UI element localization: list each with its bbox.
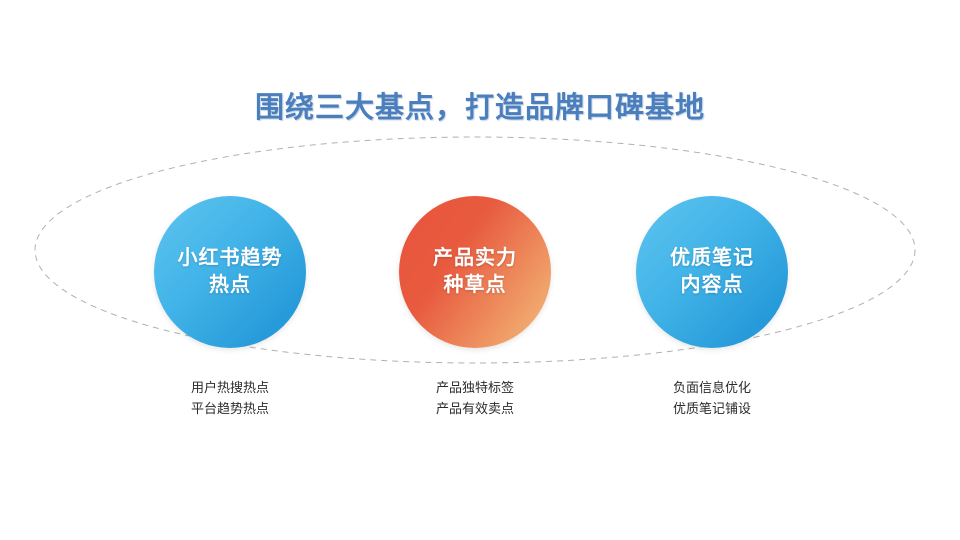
circle-shape-1[interactable]: 小红书趋势 热点 bbox=[154, 196, 306, 348]
page-title: 围绕三大基点，打造品牌口碑基地 bbox=[0, 84, 960, 126]
circle-label-1-line2: 热点 bbox=[178, 272, 283, 299]
circle-label-2-line1: 产品实力 bbox=[433, 247, 517, 269]
caption-3: 负面信息优化 优质笔记铺设 bbox=[597, 378, 827, 420]
circle-label-2-line2: 种草点 bbox=[433, 272, 517, 299]
circle-label-3-line1: 优质笔记 bbox=[670, 247, 754, 269]
caption-2-line1: 产品独特标签 bbox=[436, 380, 514, 395]
caption-1: 用户热搜热点 平台趋势热点 bbox=[115, 378, 345, 420]
caption-3-line2: 优质笔记铺设 bbox=[597, 399, 827, 420]
caption-2: 产品独特标签 产品有效卖点 bbox=[360, 378, 590, 420]
circle-label-1-line1: 小红书趋势 bbox=[178, 247, 283, 269]
circle-label-1: 小红书趋势 热点 bbox=[178, 245, 283, 299]
slide-canvas: 围绕三大基点，打造品牌口碑基地 小红书趋势 热点 产品实力 种草点 优质笔记 内… bbox=[0, 0, 960, 540]
caption-1-line1: 用户热搜热点 bbox=[191, 380, 269, 395]
node-circle-2[interactable]: 产品实力 种草点 bbox=[399, 196, 551, 348]
caption-2-line2: 产品有效卖点 bbox=[360, 399, 590, 420]
circle-shape-2[interactable]: 产品实力 种草点 bbox=[399, 196, 551, 348]
circle-label-3-line2: 内容点 bbox=[670, 272, 754, 299]
circle-shape-3[interactable]: 优质笔记 内容点 bbox=[636, 196, 788, 348]
node-circle-1[interactable]: 小红书趋势 热点 bbox=[154, 196, 306, 348]
caption-1-line2: 平台趋势热点 bbox=[115, 399, 345, 420]
caption-3-line1: 负面信息优化 bbox=[673, 380, 751, 395]
circle-label-3: 优质笔记 内容点 bbox=[670, 245, 754, 299]
circle-label-2: 产品实力 种草点 bbox=[433, 245, 517, 299]
node-circle-3[interactable]: 优质笔记 内容点 bbox=[636, 196, 788, 348]
